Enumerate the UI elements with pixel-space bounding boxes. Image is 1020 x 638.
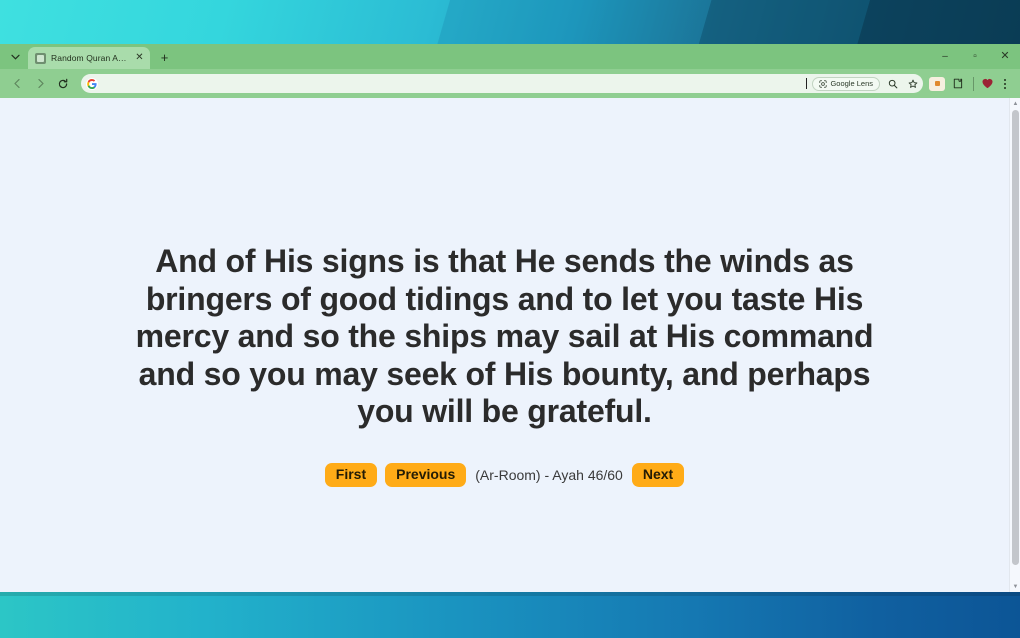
google-g-icon: [86, 78, 98, 90]
toolbar-divider: [973, 77, 974, 91]
new-tab-button[interactable]: +: [154, 47, 175, 68]
browser-tab[interactable]: Random Quran Ayah ✕: [28, 47, 150, 69]
desktop-backdrop-bottom: [0, 592, 1020, 638]
window-maximize-button[interactable]: ▫: [960, 44, 990, 69]
page-content: And of His signs is that He sends the wi…: [0, 98, 1009, 592]
ayah-text: And of His signs is that He sends the wi…: [125, 243, 885, 431]
next-button[interactable]: Next: [632, 463, 684, 487]
bookmark-star-icon[interactable]: [905, 76, 920, 91]
window-close-button[interactable]: ✕: [990, 44, 1020, 69]
search-icon[interactable]: [885, 76, 900, 91]
forward-arrow-icon[interactable]: [29, 73, 51, 95]
back-arrow-icon[interactable]: [6, 73, 28, 95]
three-dot-menu-icon[interactable]: [996, 74, 1014, 94]
ayah-navigation: First Previous (Ar-Room) - Ayah 46/60 Ne…: [325, 463, 684, 487]
screen: Random Quran Ayah ✕ + – ▫ ✕: [0, 0, 1020, 638]
previous-button[interactable]: Previous: [385, 463, 466, 487]
tab-close-icon[interactable]: ✕: [133, 52, 146, 65]
first-button[interactable]: First: [325, 463, 377, 487]
browser-toolbar: Google Lens: [0, 69, 1020, 98]
page-viewport: And of His signs is that He sends the wi…: [0, 98, 1020, 592]
desktop-backdrop-top: [0, 0, 1020, 46]
reload-icon[interactable]: [52, 73, 74, 95]
extension-dot-icon: [935, 81, 940, 86]
browser-window: Random Quran Ayah ✕ + – ▫ ✕: [0, 44, 1020, 592]
window-minimize-button[interactable]: –: [930, 44, 960, 69]
tab-title: Random Quran Ayah: [51, 53, 128, 63]
tab-search-chevron-down-icon[interactable]: [5, 48, 25, 66]
vertical-scrollbar[interactable]: ▲ ▼: [1009, 98, 1020, 592]
scrollbar-down-arrow-icon[interactable]: ▼: [1010, 581, 1020, 592]
scrollbar-thumb[interactable]: [1012, 110, 1019, 565]
puzzle-piece-icon[interactable]: [946, 73, 968, 95]
omnibox[interactable]: Google Lens: [81, 74, 923, 93]
omnibox-text-caret: [806, 78, 807, 89]
scrollbar-up-arrow-icon[interactable]: ▲: [1010, 98, 1020, 109]
lens-icon: [819, 75, 827, 93]
ayah-reference: (Ar-Room) - Ayah 46/60: [474, 467, 624, 483]
tab-strip: Random Quran Ayah ✕ + – ▫ ✕: [0, 44, 1020, 69]
google-lens-button[interactable]: Google Lens: [812, 77, 880, 91]
pinned-extension-icon[interactable]: [929, 77, 945, 91]
tab-favicon-icon: [35, 53, 46, 64]
window-controls: – ▫ ✕: [930, 44, 1020, 69]
google-lens-label: Google Lens: [830, 79, 873, 88]
profile-avatar-icon[interactable]: [979, 76, 995, 92]
